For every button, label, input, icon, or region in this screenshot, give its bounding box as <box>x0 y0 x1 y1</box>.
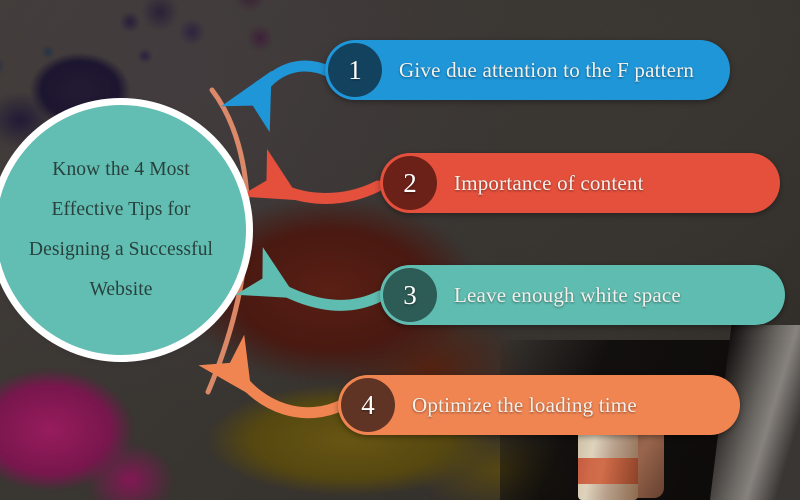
tip-number-badge-2: 2 <box>383 156 437 210</box>
tip-number-badge-4: 4 <box>341 378 395 432</box>
central-hub: Know the 4 Most Effective Tips for Desig… <box>0 105 246 355</box>
tip-bar-4[interactable]: 4 Optimize the loading time <box>338 375 740 435</box>
tip-bar-2[interactable]: 2 Importance of content <box>380 153 780 213</box>
tip-label-3: Leave enough white space <box>454 283 681 308</box>
tip-label-2: Importance of content <box>454 171 644 196</box>
tip-label-4: Optimize the loading time <box>412 393 637 418</box>
tip-bar-3[interactable]: 3 Leave enough white space <box>380 265 785 325</box>
spray-can-label-band <box>578 458 638 484</box>
infographic-canvas: Know the 4 Most Effective Tips for Desig… <box>0 0 800 500</box>
tip-number-badge-3: 3 <box>383 268 437 322</box>
central-hub-title: Know the 4 Most Effective Tips for Desig… <box>15 150 227 310</box>
tip-number-badge-1: 1 <box>328 43 382 97</box>
tip-label-1: Give due attention to the F pattern <box>399 58 694 83</box>
tip-bar-1[interactable]: 1 Give due attention to the F pattern <box>325 40 730 100</box>
